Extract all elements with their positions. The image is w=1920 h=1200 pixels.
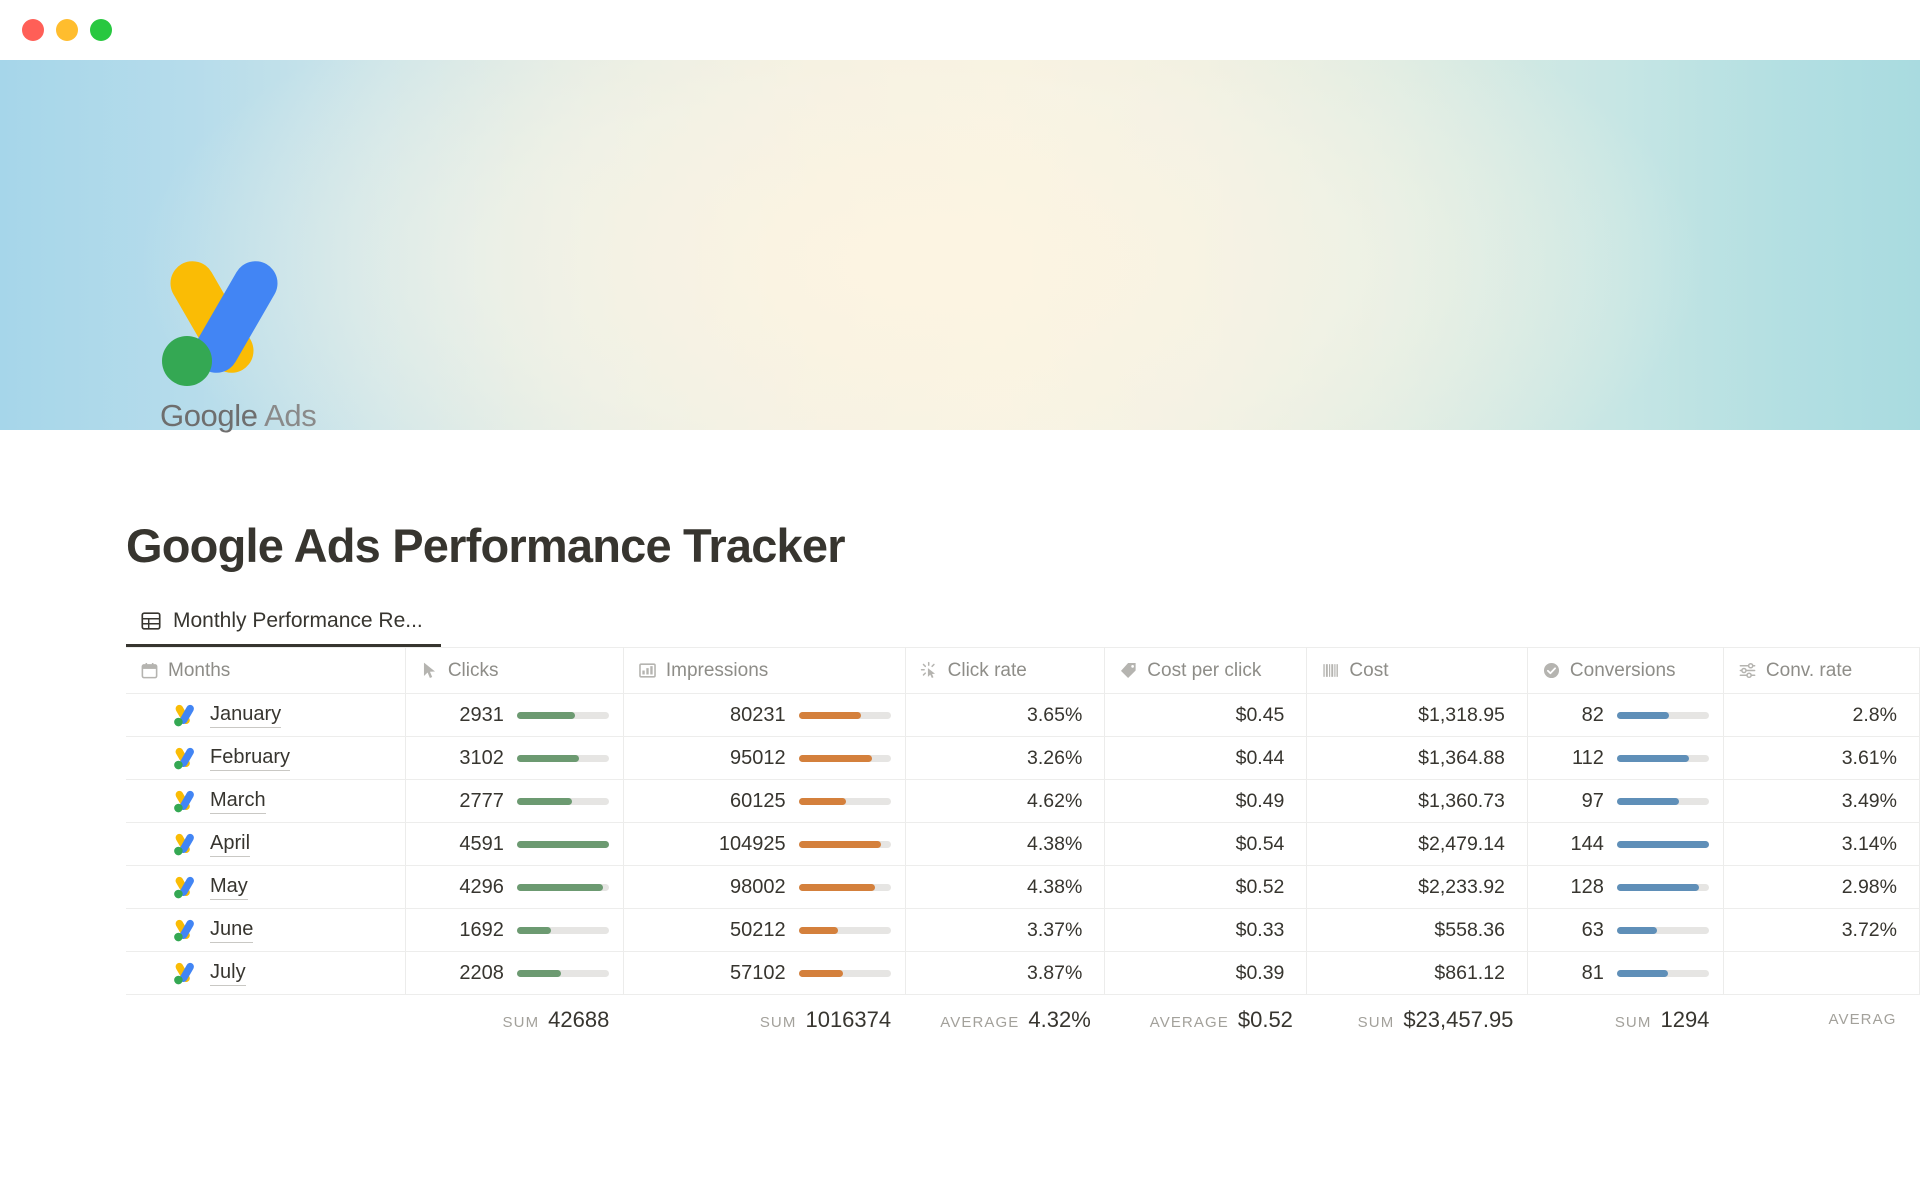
- cell-clicks[interactable]: 1692: [405, 909, 623, 952]
- cell-cost[interactable]: $2,479.14: [1307, 823, 1528, 866]
- cell-conversions[interactable]: 81: [1527, 952, 1723, 995]
- cell-conversions[interactable]: 144: [1527, 823, 1723, 866]
- sliders-icon: [1738, 661, 1757, 680]
- summary-click-rate[interactable]: AVERAGE 4.32%: [905, 995, 1105, 1045]
- table-row[interactable]: April 4591 104925 4.38% $0.54 $2,479.14 …: [126, 823, 1920, 866]
- cell-value: 98002: [730, 876, 786, 899]
- progress-bar: [799, 841, 891, 848]
- monthly-performance-table: Months Clicks: [126, 647, 1920, 1045]
- cell-cost[interactable]: $1,364.88: [1307, 737, 1528, 780]
- table-row[interactable]: July 2208 57102 3.87% $0.39 $861.12 81: [126, 952, 1920, 995]
- cell-cost[interactable]: $2,233.92: [1307, 866, 1528, 909]
- progress-bar: [799, 798, 891, 805]
- cell-click-rate[interactable]: 3.26%: [905, 737, 1105, 780]
- summary-row: SUM 42688 SUM 1016374 AVERAGE 4.32% AVER…: [126, 995, 1920, 1045]
- column-header-label: Conv. rate: [1766, 660, 1852, 682]
- cell-conv-rate[interactable]: [1723, 952, 1919, 995]
- cell-cost-per-click[interactable]: $0.39: [1105, 952, 1307, 995]
- cell-month[interactable]: May: [126, 866, 405, 909]
- summary-label: SUM: [760, 1014, 797, 1031]
- performance-table-wrapper: Months Clicks: [126, 647, 1920, 1045]
- maximize-window-button[interactable]: [90, 19, 112, 41]
- cell-conv-rate[interactable]: 2.98%: [1723, 866, 1919, 909]
- progress-bar: [517, 841, 609, 848]
- column-header-cost-per-click[interactable]: Cost per click: [1105, 648, 1307, 694]
- cell-click-rate[interactable]: 4.38%: [905, 823, 1105, 866]
- logo-text-ads: Ads: [264, 398, 316, 433]
- cell-cost-per-click[interactable]: $0.44: [1105, 737, 1307, 780]
- cell-clicks[interactable]: 4296: [405, 866, 623, 909]
- google-ads-logo-icon: [172, 789, 197, 813]
- cell-click-rate[interactable]: 3.87%: [905, 952, 1105, 995]
- table-row[interactable]: February 3102 95012 3.26% $0.44 $1,364.8…: [126, 737, 1920, 780]
- google-ads-logo-icon: [172, 746, 197, 770]
- cell-impressions[interactable]: 95012: [623, 737, 905, 780]
- google-ads-logo-icon: [172, 961, 197, 985]
- cursor-icon: [420, 661, 439, 680]
- summary-value: $23,457.95: [1403, 1007, 1513, 1033]
- cell-conv-rate[interactable]: 3.14%: [1723, 823, 1919, 866]
- cell-cost[interactable]: $1,318.95: [1307, 694, 1528, 737]
- cell-clicks[interactable]: 4591: [405, 823, 623, 866]
- cell-impressions[interactable]: 98002: [623, 866, 905, 909]
- month-name-link[interactable]: May: [210, 874, 248, 900]
- summary-label: SUM: [1615, 1014, 1652, 1031]
- summary-value: 1294: [1660, 1007, 1709, 1033]
- cell-cost[interactable]: $558.36: [1307, 909, 1528, 952]
- cell-value: 82: [1582, 704, 1604, 727]
- cell-month[interactable]: January: [126, 694, 405, 737]
- cell-impressions[interactable]: 50212: [623, 909, 905, 952]
- column-header-conversions[interactable]: Conversions: [1527, 648, 1723, 694]
- month-name-link[interactable]: April: [210, 831, 250, 857]
- google-ads-logo-icon: [172, 875, 197, 899]
- column-header-conv-rate[interactable]: Conv. rate: [1723, 648, 1919, 694]
- cell-cost-per-click[interactable]: $0.49: [1105, 780, 1307, 823]
- cell-conv-rate[interactable]: 3.72%: [1723, 909, 1919, 952]
- google-ads-logo-icon: [172, 918, 197, 942]
- page-cover-banner: Google Ads: [0, 60, 1920, 430]
- month-name-link[interactable]: July: [210, 960, 246, 986]
- month-name-link[interactable]: January: [210, 702, 281, 728]
- summary-cost-per-click[interactable]: AVERAGE $0.52: [1105, 995, 1307, 1045]
- cell-month[interactable]: July: [126, 952, 405, 995]
- progress-bar: [517, 712, 609, 719]
- progress-bar: [1617, 841, 1709, 848]
- click-rays-icon: [920, 661, 939, 680]
- window-titlebar: [0, 0, 1920, 60]
- cell-cost-per-click[interactable]: $0.33: [1105, 909, 1307, 952]
- progress-bar: [1617, 970, 1709, 977]
- cell-value: 1692: [459, 919, 504, 942]
- cell-value: 2931: [459, 704, 504, 727]
- cell-click-rate[interactable]: 4.38%: [905, 866, 1105, 909]
- progress-bar: [1617, 927, 1709, 934]
- table-body: January 2931 80231 3.65% $0.45 $1,318.95…: [126, 694, 1920, 995]
- cell-conversions[interactable]: 63: [1527, 909, 1723, 952]
- cell-conversions[interactable]: 112: [1527, 737, 1723, 780]
- close-window-button[interactable]: [22, 19, 44, 41]
- logo-text-google: Google: [160, 398, 258, 433]
- cell-cost-per-click[interactable]: $0.52: [1105, 866, 1307, 909]
- summary-impressions[interactable]: SUM 1016374: [623, 995, 905, 1045]
- table-row[interactable]: June 1692 50212 3.37% $0.33 $558.36 63 3…: [126, 909, 1920, 952]
- progress-bar: [1617, 712, 1709, 719]
- cell-value: 4296: [459, 876, 504, 899]
- summary-label: SUM: [503, 1014, 540, 1031]
- table-row[interactable]: May 4296 98002 4.38% $0.52 $2,233.92 128…: [126, 866, 1920, 909]
- column-header-months[interactable]: Months: [126, 648, 405, 694]
- cell-click-rate[interactable]: 4.62%: [905, 780, 1105, 823]
- column-header-label: Cost: [1349, 660, 1388, 682]
- cell-cost[interactable]: $1,360.73: [1307, 780, 1528, 823]
- progress-bar: [517, 798, 609, 805]
- summary-label: SUM: [1358, 1014, 1395, 1031]
- cell-value: 81: [1582, 962, 1604, 985]
- summary-value: 1016374: [805, 1007, 891, 1033]
- cell-month[interactable]: March: [126, 780, 405, 823]
- google-ads-logo-icon: [172, 832, 197, 856]
- cell-value: 97: [1582, 790, 1604, 813]
- cell-impressions[interactable]: 57102: [623, 952, 905, 995]
- month-name-link[interactable]: June: [210, 917, 253, 943]
- cell-impressions[interactable]: 80231: [623, 694, 905, 737]
- cell-value: 57102: [730, 962, 786, 985]
- cell-value: 95012: [730, 747, 786, 770]
- cell-impressions[interactable]: 60125: [623, 780, 905, 823]
- cell-conv-rate[interactable]: 3.61%: [1723, 737, 1919, 780]
- month-name-link[interactable]: March: [210, 788, 266, 814]
- column-header-cost[interactable]: Cost: [1307, 648, 1528, 694]
- cell-clicks[interactable]: 2777: [405, 780, 623, 823]
- cell-conversions[interactable]: 82: [1527, 694, 1723, 737]
- page-icon-google-ads-logo: Google Ads: [160, 250, 420, 434]
- progress-bar: [799, 755, 891, 762]
- progress-bar: [517, 970, 609, 977]
- cell-value: 3102: [459, 747, 504, 770]
- summary-conv-rate[interactable]: AVERAG: [1723, 995, 1919, 1045]
- cell-value: 2777: [459, 790, 504, 813]
- progress-bar: [799, 970, 891, 977]
- cell-month[interactable]: June: [126, 909, 405, 952]
- minimize-window-button[interactable]: [56, 19, 78, 41]
- page-content: Google Ads Performance Tracker Monthly P…: [0, 518, 1920, 1045]
- cell-value: 2208: [459, 962, 504, 985]
- column-header-label: Cost per click: [1147, 660, 1261, 682]
- progress-bar: [1617, 755, 1709, 762]
- summary-clicks[interactable]: SUM 42688: [405, 995, 623, 1045]
- column-header-label: Impressions: [666, 660, 768, 682]
- progress-bar: [1617, 798, 1709, 805]
- google-ads-wordmark: Google Ads: [160, 398, 420, 434]
- column-header-click-rate[interactable]: Click rate: [905, 648, 1105, 694]
- cell-value: 50212: [730, 919, 786, 942]
- cell-value: 144: [1571, 833, 1604, 856]
- summary-months: [126, 995, 405, 1045]
- google-ads-logo-icon: [172, 703, 197, 727]
- page-title: Google Ads Performance Tracker: [126, 518, 1920, 573]
- summary-label: AVERAGE: [940, 1014, 1019, 1031]
- table-row[interactable]: January 2931 80231 3.65% $0.45 $1,318.95…: [126, 694, 1920, 737]
- database-view-tabs: Monthly Performance Re...: [126, 609, 1920, 647]
- google-ads-logo-icon: [160, 250, 285, 390]
- tab-label: Monthly Performance Re...: [173, 609, 423, 633]
- cell-conversions[interactable]: 128: [1527, 866, 1723, 909]
- calendar-icon: [140, 661, 159, 680]
- cell-clicks[interactable]: 3102: [405, 737, 623, 780]
- cell-cost-per-click[interactable]: $0.54: [1105, 823, 1307, 866]
- cell-value: 112: [1572, 747, 1604, 770]
- column-header-label: Clicks: [448, 660, 499, 682]
- cell-value: 63: [1582, 919, 1604, 942]
- tag-icon: [1119, 661, 1138, 680]
- cell-click-rate[interactable]: 3.65%: [905, 694, 1105, 737]
- progress-bar: [799, 884, 891, 891]
- progress-bar: [517, 927, 609, 934]
- cell-month[interactable]: April: [126, 823, 405, 866]
- table-summary-footer: SUM 42688 SUM 1016374 AVERAGE 4.32% AVER…: [126, 995, 1920, 1045]
- column-header-clicks[interactable]: Clicks: [405, 648, 623, 694]
- tab-monthly-performance-report[interactable]: Monthly Performance Re...: [126, 609, 441, 647]
- summary-label: AVERAGE: [1150, 1014, 1229, 1031]
- cell-value: 80231: [730, 704, 786, 727]
- table-header-row: Months Clicks: [126, 648, 1920, 694]
- summary-conversions[interactable]: SUM 1294: [1527, 995, 1723, 1045]
- column-header-impressions[interactable]: Impressions: [623, 648, 905, 694]
- progress-bar: [1617, 884, 1709, 891]
- cell-click-rate[interactable]: 3.37%: [905, 909, 1105, 952]
- bar-chart-icon: [638, 661, 657, 680]
- cell-cost-per-click[interactable]: $0.45: [1105, 694, 1307, 737]
- summary-value: 4.32%: [1028, 1007, 1090, 1033]
- table-icon: [140, 610, 162, 632]
- month-name-link[interactable]: February: [210, 745, 290, 771]
- summary-cost[interactable]: SUM $23,457.95: [1307, 995, 1528, 1045]
- cell-value: 128: [1571, 876, 1604, 899]
- progress-bar: [799, 927, 891, 934]
- column-header-label: Click rate: [948, 660, 1027, 682]
- cell-impressions[interactable]: 104925: [623, 823, 905, 866]
- column-header-label: Months: [168, 660, 230, 682]
- cell-value: 60125: [730, 790, 786, 813]
- summary-value: $0.52: [1238, 1007, 1293, 1033]
- cell-value: 104925: [719, 833, 786, 856]
- cell-clicks[interactable]: 2931: [405, 694, 623, 737]
- column-header-label: Conversions: [1570, 660, 1676, 682]
- table-row[interactable]: March 2777 60125 4.62% $0.49 $1,360.73 9…: [126, 780, 1920, 823]
- cell-value: 4591: [459, 833, 504, 856]
- barcode-icon: [1321, 661, 1340, 680]
- check-circle-icon: [1542, 661, 1561, 680]
- cell-conv-rate[interactable]: 3.49%: [1723, 780, 1919, 823]
- progress-bar: [517, 755, 609, 762]
- summary-value: 42688: [548, 1007, 609, 1033]
- cell-month[interactable]: February: [126, 737, 405, 780]
- cell-clicks[interactable]: 2208: [405, 952, 623, 995]
- window-traffic-lights: [22, 19, 112, 41]
- progress-bar: [517, 884, 609, 891]
- cell-conversions[interactable]: 97: [1527, 780, 1723, 823]
- cell-cost[interactable]: $861.12: [1307, 952, 1528, 995]
- progress-bar: [799, 712, 891, 719]
- summary-label: AVERAG: [1828, 1011, 1896, 1028]
- cell-conv-rate[interactable]: 2.8%: [1723, 694, 1919, 737]
